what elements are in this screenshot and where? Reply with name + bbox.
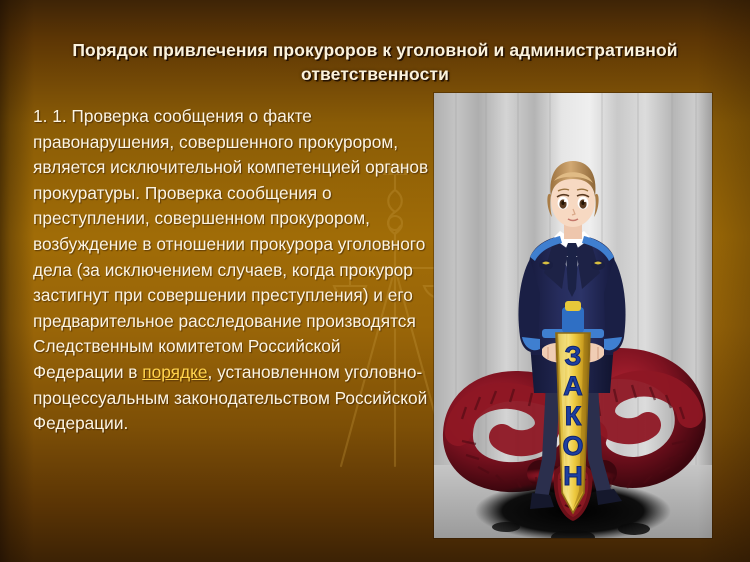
svg-text:О: О — [562, 431, 583, 461]
slide-body-text: 1. 1. Проверка сообщения о факте правона… — [33, 104, 433, 437]
svg-text:Н: Н — [563, 461, 583, 491]
poryadke-hyperlink[interactable]: порядке — [142, 362, 207, 382]
sword-inscription: З А К О Н — [562, 341, 583, 491]
svg-text:З: З — [565, 341, 582, 371]
presentation-slide: Порядок привлечения прокуроров к уголовн… — [0, 0, 750, 562]
svg-text:К: К — [565, 401, 582, 431]
illustration-image: З А К О Н — [434, 93, 712, 538]
body-text-part-1: 1. 1. Проверка сообщения о факте правона… — [33, 106, 428, 382]
slide-title: Порядок привлечения прокуроров к уголовн… — [30, 38, 720, 86]
svg-text:А: А — [563, 371, 583, 401]
